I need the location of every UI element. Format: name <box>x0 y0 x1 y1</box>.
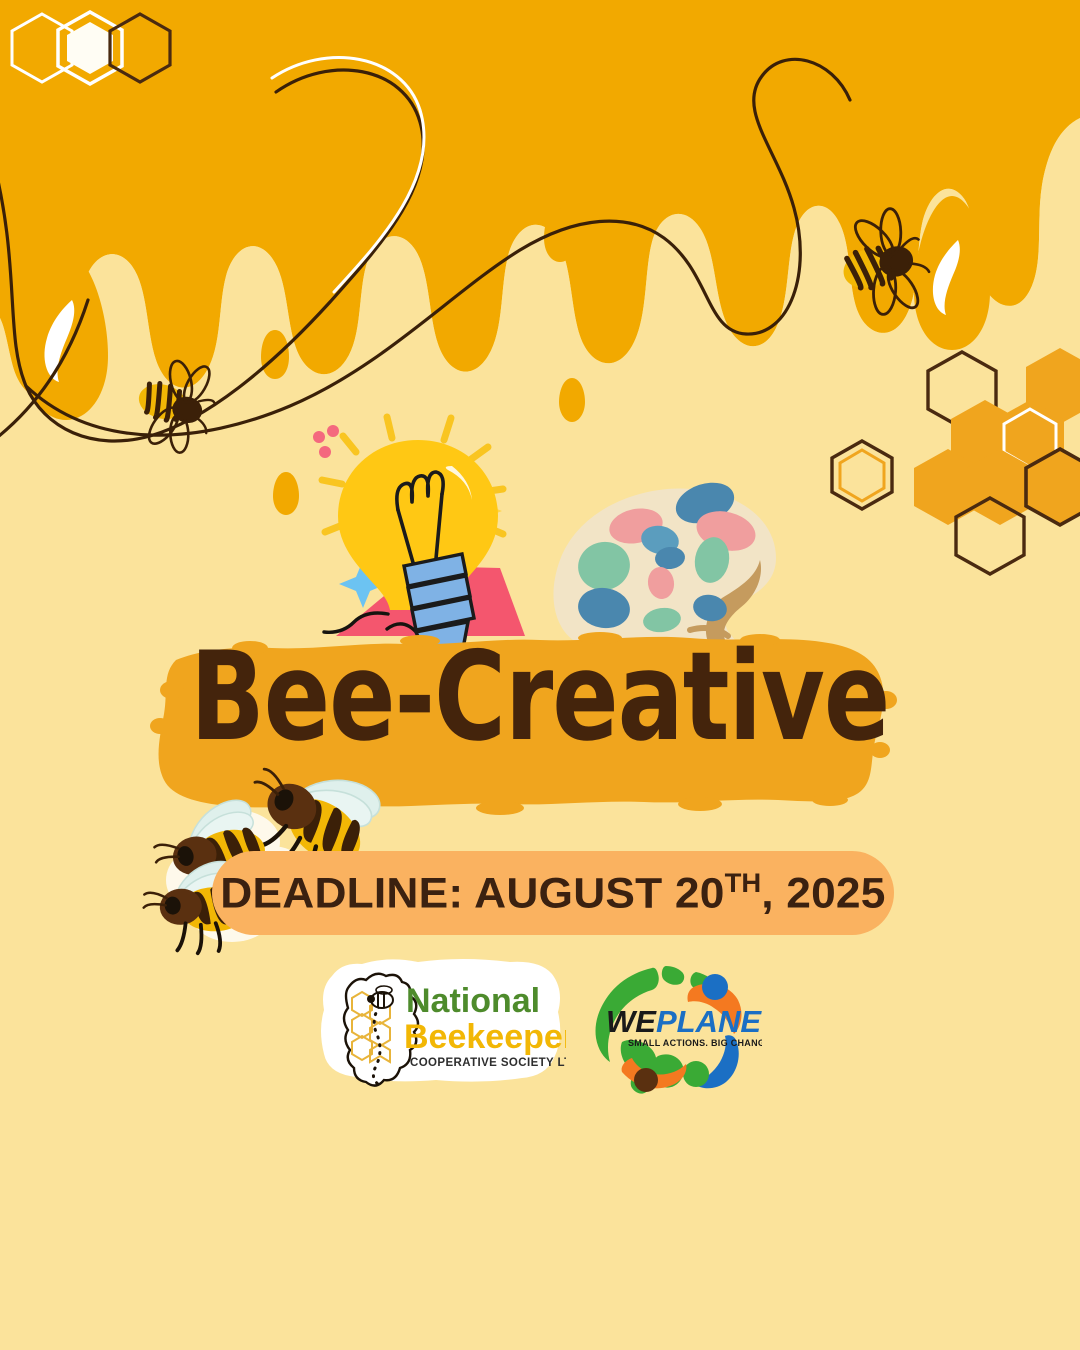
weplanet-tagline: SMALL ACTIONS. BIG CHANGE. <box>628 1038 762 1048</box>
weplanet-logo: WEPLANET SMALL ACTIONS. BIG CHANGE. <box>584 952 762 1102</box>
weplanet-we: WE <box>606 1004 657 1039</box>
weplanet-planet: PLANET <box>656 1004 762 1039</box>
logo-row: National Beekeepers COOPERATIVE SOCIETY … <box>0 952 1080 1102</box>
deadline-ordinal: TH <box>725 868 762 898</box>
deadline-prefix: DEADLINE: AUGUST 20 <box>220 869 724 917</box>
logo-line-cooperative: COOPERATIVE SOCIETY LTD. <box>410 1057 566 1069</box>
deadline-banner: DEADLINE: AUGUST 20TH, 2025 <box>212 851 894 935</box>
weplanet-name: WEPLANET <box>606 1004 762 1039</box>
logo-line-national: National <box>406 982 540 1020</box>
poster-canvas: Bee-Creative <box>0 0 1080 1350</box>
logo-line-beekeepers: Beekeepers <box>404 1018 566 1056</box>
national-beekeepers-logo: National Beekeepers COOPERATIVE SOCIETY … <box>318 956 566 1098</box>
deadline-suffix: , 2025 <box>761 869 885 917</box>
deadline-text: DEADLINE: AUGUST 20TH, 2025 <box>220 868 885 918</box>
realistic-bees-group <box>0 0 1080 1350</box>
